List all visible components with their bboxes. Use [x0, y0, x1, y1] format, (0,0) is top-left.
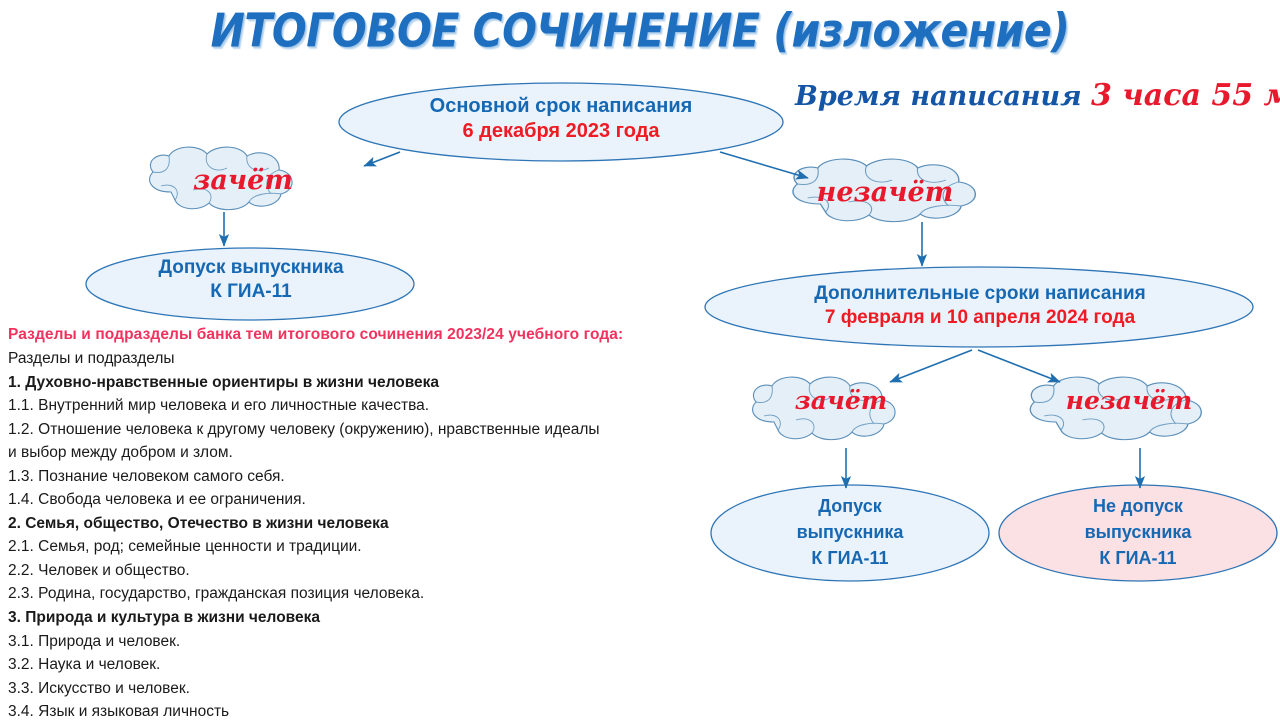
- arrow-main-to-pass: [364, 152, 400, 166]
- section-line: 1.1. Внутренний мир человека и его лично…: [8, 394, 698, 418]
- section-line: 1. Духовно-нравственные ориентиры в жизн…: [8, 371, 698, 395]
- node-no-admission-line2: выпускника: [1000, 519, 1276, 545]
- node-no-admission-text: Не допуск выпускника К ГИА-11: [1000, 493, 1276, 571]
- duration-note: Время написания 3 часа 55 минут: [795, 78, 1280, 113]
- section-line: 1.3. Познание человеком самого себя.: [8, 465, 698, 489]
- page-title: ИТОГОВОЕ СОЧИНЕНИЕ (изложение): [0, 4, 1280, 58]
- arrow-extra-to-pass: [890, 350, 972, 382]
- cloud-fail-extra-label: незачёт: [1044, 386, 1214, 415]
- sections-list: Разделы и подразделы банка тем итогового…: [8, 326, 698, 724]
- cloud-fail-main-label: незачёт: [800, 177, 970, 208]
- node-admission-main-text: Допуск выпускника К ГИА-11: [86, 256, 416, 304]
- arrow-extra-to-fail: [978, 350, 1060, 382]
- section-line: 3. Природа и культура в жизни человека: [8, 606, 698, 630]
- sections-heading: Разделы и подразделы банка тем итогового…: [8, 326, 698, 344]
- node-extra-terms-text: Дополнительные сроки написания 7 февраля…: [706, 282, 1254, 330]
- cloud-pass-extra-label: зачёт: [776, 386, 906, 415]
- section-line: и выбор между добром и злом.: [8, 441, 698, 465]
- section-line: 3.1. Природа и человек.: [8, 630, 698, 654]
- section-line: 2. Семья, общество, Отечество в жизни че…: [8, 512, 698, 536]
- section-line: 2.1. Семья, род; семейные ценности и тра…: [8, 535, 698, 559]
- duration-label: Время написания: [795, 81, 1082, 112]
- section-line: 2.2. Человек и общество.: [8, 559, 698, 583]
- node-no-admission-line3: К ГИА-11: [1000, 545, 1276, 571]
- section-line: Разделы и подразделы: [8, 347, 698, 371]
- node-main-term-line1: Основной срок написания: [341, 94, 781, 119]
- node-admission-main-line2: К ГИА-11: [86, 280, 416, 304]
- node-main-term-text: Основной срок написания 6 декабря 2023 г…: [341, 94, 781, 144]
- duration-value: 3 часа 55 минут: [1091, 78, 1280, 113]
- node-main-term-line2: 6 декабря 2023 года: [341, 119, 781, 144]
- section-line: 1.4. Свобода человека и ее ограничения.: [8, 488, 698, 512]
- node-admission-extra-line1: Допуск: [710, 493, 990, 519]
- section-line: 1.2. Отношение человека к другому челове…: [8, 418, 698, 442]
- section-line: 3.2. Наука и человек.: [8, 653, 698, 677]
- node-no-admission-line1: Не допуск: [1000, 493, 1276, 519]
- section-line: 3.4. Язык и языковая личность: [8, 700, 698, 724]
- cloud-pass-main-label: зачёт: [178, 165, 308, 196]
- node-admission-main-line1: Допуск выпускника: [86, 256, 416, 280]
- sections-lines: Разделы и подразделы1. Духовно-нравствен…: [8, 347, 698, 724]
- node-extra-terms-line1: Дополнительные сроки написания: [706, 282, 1254, 306]
- node-extra-terms-line2: 7 февраля и 10 апреля 2024 года: [706, 306, 1254, 330]
- arrow-main-to-fail: [720, 152, 808, 178]
- section-line: 2.3. Родина, государство, гражданская по…: [8, 582, 698, 606]
- node-admission-extra-line2: выпускника: [710, 519, 990, 545]
- section-line: 3.3. Искусство и человек.: [8, 677, 698, 701]
- node-admission-extra-line3: К ГИА-11: [710, 545, 990, 571]
- node-admission-extra-text: Допуск выпускника К ГИА-11: [710, 493, 990, 571]
